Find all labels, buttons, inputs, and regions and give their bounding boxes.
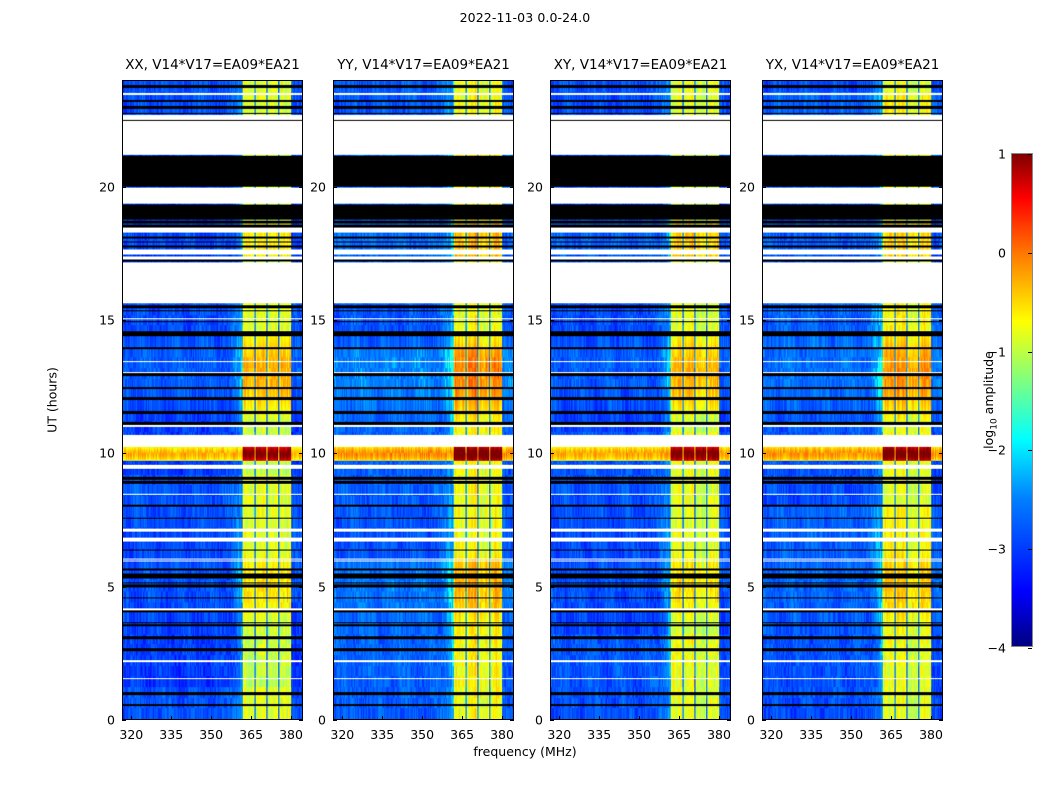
panel-xy-xtick-320: 320 [547,720,571,742]
panel-xx-ytickmark-5 [122,587,126,588]
panel-xx-ytick-5: 5 [107,579,122,594]
panel-xx-ytick-20: 20 [99,179,122,194]
panel-yx-xtickmark-320 [771,716,772,720]
panel-xy-ytickmark-15 [550,320,554,321]
panel-xx-ytickmark-right-15 [299,320,303,321]
panel-yy-dynamic-spectrum [334,81,513,719]
panel-yy-xtick-380: 380 [490,720,514,742]
colorbar-tickmark-0 [1028,253,1032,254]
colorbar-tick--3: −3 [988,542,1012,557]
panel-xy-xtick-380: 380 [707,720,731,742]
panel-xx-xtickmark-380 [291,716,292,720]
panel-yx-ytickmark-20 [762,187,766,188]
panel-xx-ytickmark-15 [122,320,126,321]
panel-yy-ytick-15: 15 [310,313,333,328]
panel-xy-ytick-15: 15 [527,313,550,328]
panel-yx-ytickmark-right-10 [939,453,943,454]
panel-yx-xtick-365: 365 [879,720,903,742]
panel-yy-title: YY, V14*V17=EA09*EA21 [333,57,514,80]
panel-xy-ytick-10: 10 [527,446,550,461]
panel-xy-ytickmark-10 [550,453,554,454]
panel-yy-xtick-335: 335 [370,720,394,742]
panel-yx-ytickmark-10 [762,453,766,454]
colorbar-tickmark--4 [1028,648,1032,649]
panel-yy-ytickmark-20 [333,187,337,188]
colorbar-label: log10 amplitude [981,351,1000,449]
panel-yx-xtickmark-365 [891,716,892,720]
panel-yy-ytickmark-right-5 [510,587,514,588]
colorbar: −4−3−2−101 [1011,153,1033,647]
panel-xy-xtick-365: 365 [667,720,691,742]
panel-yy-xtickmark-350 [422,716,423,720]
panel-xx-ytickmark-right-20 [299,187,303,188]
panel-yx-xtickmark-380 [931,716,932,720]
panel-yx-ytick-5: 5 [747,579,762,594]
panel-xx-xtick-350: 350 [199,720,223,742]
panel-xy-ytickmark-right-5 [727,587,731,588]
panel-xx-xtickmark-320 [131,716,132,720]
panel-yy-ytick-10: 10 [310,446,333,461]
panel-yx-xtickmark-335 [811,716,812,720]
panel-yy-xtickmark-335 [382,716,383,720]
panel-yy-axes [333,80,514,720]
panel-yy-ytickmark-10 [333,453,337,454]
panel-yy-xtick-365: 365 [450,720,474,742]
panel-xy-xtickmark-350 [639,716,640,720]
panel-yx-axes [762,80,943,720]
figure-suptitle: 2022-11-03 0.0-24.0 [0,10,1050,25]
panel-xy-axes [550,80,731,720]
panel-xx-title: XX, V14*V17=EA09*EA21 [122,57,303,80]
panel-xx-xtick-335: 335 [159,720,183,742]
panel-xy-xtickmark-320 [559,716,560,720]
panel-xy-xtick-335: 335 [587,720,611,742]
panel-yx-ytickmark-right-20 [939,187,943,188]
panel-xx-ytick-15: 15 [99,313,122,328]
panel-xx: XX, V14*V17=EA09*EA210510152032033535036… [122,80,303,720]
panel-xx-xtick-320: 320 [119,720,143,742]
colorbar-label-base: log [981,430,996,449]
panel-xx-xtickmark-365 [251,716,252,720]
x-axis-label: frequency (MHz) [0,744,1050,759]
panel-yy-xtick-350: 350 [410,720,434,742]
panel-xy-ytickmark-right-15 [727,320,731,321]
panel-xy-ytickmark-20 [550,187,554,188]
panel-yx-ytick-15: 15 [739,313,762,328]
panel-xy-xtickmark-380 [719,716,720,720]
panel-yx-ytickmark-right-15 [939,320,943,321]
panel-yx-xtick-320: 320 [759,720,783,742]
panel-xy-title: XY, V14*V17=EA09*EA21 [550,57,731,80]
colorbar-tick-1: 1 [998,147,1012,162]
panel-yx-xtick-335: 335 [799,720,823,742]
panel-yy-xtickmark-320 [342,716,343,720]
panel-xx-ytickmark-right-5 [299,587,303,588]
colorbar-label-sub: 10 [989,418,999,429]
panel-xx-axes [122,80,303,720]
panel-xx-xtick-380: 380 [279,720,303,742]
panel-xy-ytick-5: 5 [535,579,550,594]
colorbar-label-rest: amplitude [981,351,996,418]
panel-xx-ytickmark-20 [122,187,126,188]
panel-yy-ytickmark-right-10 [510,453,514,454]
panel-xx-ytickmark-right-10 [299,453,303,454]
colorbar-tickmark-1 [1028,154,1032,155]
panel-yy-ytickmark-right-20 [510,187,514,188]
panel-yx-ytickmark-right-5 [939,587,943,588]
panel-yy-xtickmark-365 [462,716,463,720]
panel-yx-ytickmark-15 [762,320,766,321]
panel-xx-xtickmark-335 [171,716,172,720]
colorbar-tick-0: 0 [998,245,1012,260]
panel-yx-title: YX, V14*V17=EA09*EA21 [762,57,943,80]
panel-xy-ytick-20: 20 [527,179,550,194]
colorbar-tickmark--1 [1028,352,1032,353]
panel-xx-ytickmark-10 [122,453,126,454]
panel-yx-xtick-350: 350 [839,720,863,742]
panel-xx-ytick-10: 10 [99,446,122,461]
panel-yy-ytickmark-15 [333,320,337,321]
y-axis-label: UT (hours) [45,367,60,433]
panel-yx-ytickmark-5 [762,587,766,588]
panel-yy-ytickmark-right-15 [510,320,514,321]
panel-xx-dynamic-spectrum [123,81,302,719]
panel-yx-xtickmark-350 [851,716,852,720]
panel-xy-xtickmark-365 [679,716,680,720]
panel-xy-xtick-350: 350 [627,720,651,742]
panel-yx-xtick-380: 380 [919,720,943,742]
panel-yy-ytick-5: 5 [318,579,333,594]
panel-xy-ytickmark-right-20 [727,187,731,188]
panel-yy-ytickmark-5 [333,587,337,588]
panel-xy-xtickmark-335 [599,716,600,720]
panel-yx-ytick-10: 10 [739,446,762,461]
colorbar-tickmark--2 [1028,450,1032,451]
colorbar-tickmark--3 [1028,549,1032,550]
panel-yx-ytick-20: 20 [739,179,762,194]
panel-xy-ytickmark-right-10 [727,453,731,454]
panel-xy: XY, V14*V17=EA09*EA210510152032033535036… [550,80,731,720]
panel-yx: YX, V14*V17=EA09*EA210510152032033535036… [762,80,943,720]
panel-yy-ytick-20: 20 [310,179,333,194]
panel-yy-xtick-320: 320 [330,720,354,742]
panel-yy-xtickmark-380 [502,716,503,720]
panel-xx-xtick-365: 365 [239,720,263,742]
panel-yx-dynamic-spectrum [763,81,942,719]
panel-xy-dynamic-spectrum [551,81,730,719]
panel-xy-ytickmark-5 [550,587,554,588]
panel-xx-xtickmark-350 [211,716,212,720]
colorbar-tick--4: −4 [988,641,1012,656]
panel-yy: YY, V14*V17=EA09*EA210510152032033535036… [333,80,514,720]
